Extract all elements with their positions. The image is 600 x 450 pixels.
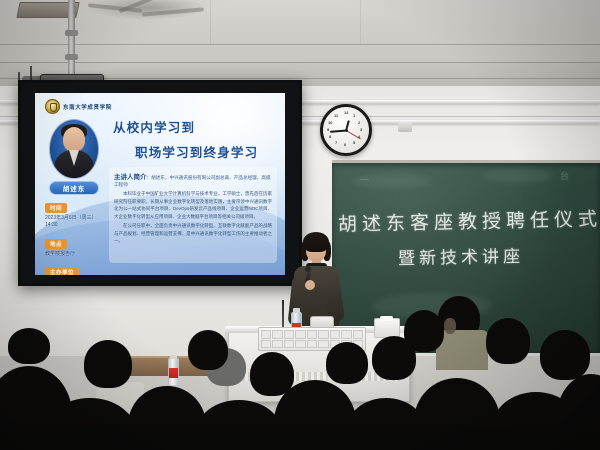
speaker-portrait-photo [49,119,99,179]
clock-hour-8: 8 [329,134,331,139]
microphone-head-icon [305,266,311,272]
list-item [326,342,368,384]
ceiling-fan [88,0,208,20]
portrait-face [63,127,85,152]
clock-hour-11: 11 [334,113,338,118]
slide-title-line-2: 职场学习到终身学习 [135,142,281,161]
wall-hook [398,122,412,132]
chalkboard-faint-mark: 一 [360,173,372,186]
speaker-hair [303,232,329,252]
chalkboard-line-1: 胡述东客座教授聘任仪式 [338,204,600,237]
clock-hour-1: 1 [353,113,355,118]
chalkboard-faint-mark: 台 [560,169,572,182]
university-crest-icon [45,99,60,114]
list-item [540,330,590,380]
projector-support-pole [68,0,75,82]
water-bottle [168,358,179,386]
clock-hour-7: 7 [335,140,337,145]
clock-hour-5: 5 [353,140,355,145]
list-item [8,328,50,364]
bottle-cap [170,355,177,359]
tissue-box [374,318,400,338]
slide-title-line-1: 从校内学习到 [113,117,281,136]
slide-body-paragraph: 本科毕业于中国矿业大学计算机科学与技术专业，工学硕士，曾先后在历家研究院任职要职… [114,190,272,221]
clock-hour-2: 2 [358,120,360,125]
meta-label-location: 地点 [45,239,67,249]
lecture-hall-photo: 12 1 2 3 4 5 6 7 8 9 10 11 一 台 胡述东客座教授聘任… [0,0,600,450]
clock-hour-3: 3 [360,127,362,132]
meta-value-time: 2023年3月6日（周三）14:30 [45,215,107,230]
chalkboard-line-2: 暨新技术讲座 [398,242,524,269]
clock-hour-9: 9 [327,127,329,132]
list-item [188,330,228,370]
desk-microphone-stand [282,300,284,330]
list-item [486,318,530,364]
clock-hour-10: 10 [328,120,332,125]
slide-meta-block: 时间 2023年3月6日（周三）14:30 地点 教学楼报告厅 主办单位 计算机… [45,197,107,275]
list-item [0,424,600,450]
university-logo: 东南大学成贤学院 [45,99,112,114]
clock-hour-6: 6 [344,142,346,147]
slide-body-heading: 主讲人简介：胡述东，中兴通讯股份有限公司副总裁、产品总经理、高级工程师 [114,171,272,188]
slide-body-paragraph: 在公司任职中，全面负责中兴通讯数字化转型、互联数字化赋能产品的战略与产品规划、经… [114,222,272,245]
meta-label-time: 时间 [45,203,67,213]
slide-body-card: 主讲人简介：胡述东，中兴通讯股份有限公司副总裁、产品总经理、高级工程师 本科毕业… [109,167,277,263]
speaker-name-badge: 胡述东 [49,181,99,195]
university-logo-text: 东南大学成贤学院 [63,103,112,111]
analog-wall-clock: 12 1 2 3 4 5 6 7 8 9 10 11 [320,104,372,156]
meta-label-organizer: 主办单位 [45,267,79,275]
projection-screen: 东南大学成贤学院 从校内学习到 职场学习到终身学习 胡述东 时间 2023年3月… [18,80,302,286]
bottle-label [169,368,178,378]
meta-value-location: 教学楼报告厅 [45,251,107,258]
presentation-slide: 东南大学成贤学院 从校内学习到 职场学习到终身学习 胡述东 时间 2023年3月… [35,93,285,275]
clock-center-pin [345,129,348,132]
slide-body-heading-label: 主讲人简介 [114,174,147,181]
list-item [84,340,132,388]
bottle-cap [293,308,300,313]
clock-minute-hand [330,130,346,133]
slide-title: 从校内学习到 职场学习到终身学习 [113,117,281,161]
clock-hour-12: 12 [344,110,348,115]
speaker-hand [305,280,315,290]
list-item [372,336,416,380]
